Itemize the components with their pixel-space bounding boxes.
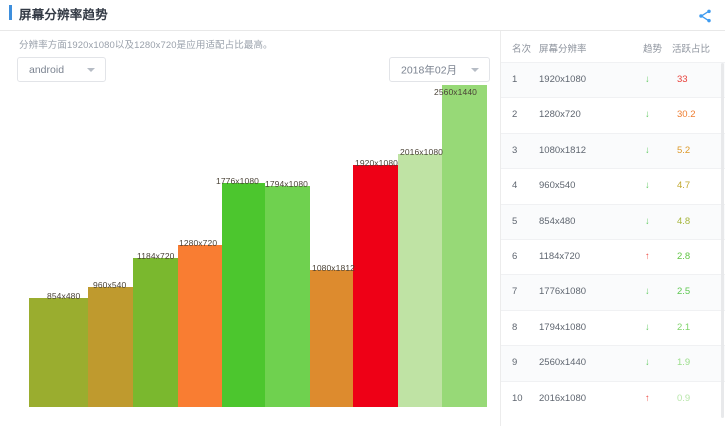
- cell-active-percent: 2.5: [677, 286, 690, 297]
- resolution-rank-table: 名次屏幕分辨率趋势活跃占比 11920x1080↓3321280x720↓30.…: [501, 31, 725, 426]
- table-column-header: 活跃占比: [672, 41, 710, 55]
- cell-active-percent: 2.1: [677, 322, 690, 333]
- panel-header: 屏幕分辨率趋势: [0, 0, 725, 30]
- cell-rank: 4: [512, 180, 517, 191]
- chart-bar-label: 2016x1080: [400, 147, 443, 157]
- chart-bar[interactable]: [222, 183, 265, 407]
- cell-resolution: 854x480: [539, 216, 575, 227]
- chart-bar-label: 1920x1080: [355, 158, 398, 168]
- arrow-down-icon: ↓: [645, 322, 650, 333]
- table-row[interactable]: 92560x1440↓1.9: [501, 345, 725, 380]
- table-row[interactable]: 5854x480↓4.8: [501, 204, 725, 239]
- chart-bar[interactable]: [29, 298, 88, 407]
- table-column-header: 名次: [512, 41, 531, 55]
- arrow-down-icon: ↓: [645, 357, 650, 368]
- share-icon[interactable]: [697, 8, 713, 24]
- table-row[interactable]: 71776x1080↓2.5: [501, 274, 725, 309]
- chart-bar-label: 960x540: [93, 280, 126, 290]
- cell-resolution: 1080x1812: [539, 145, 586, 156]
- cell-rank: 1: [512, 74, 517, 85]
- cell-active-percent: 5.2: [677, 145, 690, 156]
- cell-active-percent: 4.7: [677, 180, 690, 191]
- cell-rank: 9: [512, 357, 517, 368]
- table-body: 11920x1080↓3321280x720↓30.231080x1812↓5.…: [501, 62, 725, 416]
- cell-active-percent: 30.2: [677, 109, 696, 120]
- arrow-down-icon: ↓: [645, 286, 650, 297]
- arrow-down-icon: ↓: [645, 216, 650, 227]
- chart-bar[interactable]: [178, 245, 222, 407]
- cell-rank: 3: [512, 145, 517, 156]
- chart-bar[interactable]: [398, 154, 442, 407]
- table-row[interactable]: 4960x540↓4.7: [501, 168, 725, 203]
- cell-resolution: 2560x1440: [539, 357, 586, 368]
- chart-bar[interactable]: [310, 270, 353, 407]
- arrow-down-icon: ↓: [645, 74, 650, 85]
- arrow-up-icon: ↑: [645, 393, 650, 404]
- table-row[interactable]: 11920x1080↓33: [501, 62, 725, 97]
- table-column-header: 趋势: [643, 41, 662, 55]
- arrow-down-icon: ↓: [645, 145, 650, 156]
- cell-resolution: 1776x1080: [539, 286, 586, 297]
- platform-select[interactable]: android: [17, 57, 106, 82]
- table-header-row: 名次屏幕分辨率趋势活跃占比: [501, 31, 725, 62]
- cell-resolution: 960x540: [539, 180, 575, 191]
- table-row[interactable]: 21280x720↓30.2: [501, 97, 725, 132]
- table-scrollbar[interactable]: [721, 63, 724, 418]
- cell-rank: 7: [512, 286, 517, 297]
- title-accent-bar: [9, 5, 12, 20]
- cell-resolution: 1184x720: [539, 251, 580, 262]
- cell-rank: 2: [512, 109, 517, 120]
- cell-resolution: 1280x720: [539, 109, 581, 120]
- table-row[interactable]: 61184x720↑2.8: [501, 239, 725, 274]
- page-title: 屏幕分辨率趋势: [19, 4, 108, 23]
- cell-active-percent: 4.8: [677, 216, 690, 227]
- resolution-bar-chart: 854x480960x5401184x7201280x7201776x10801…: [0, 80, 500, 426]
- arrow-down-icon: ↓: [645, 109, 650, 120]
- table-column-header: 屏幕分辨率: [539, 41, 587, 55]
- chart-bar-label: 854x480: [47, 291, 80, 301]
- month-select[interactable]: 2018年02月: [389, 57, 490, 82]
- chart-bar-label: 1794x1080: [265, 179, 308, 189]
- panel-subtitle: 分辨率方面1920x1080以及1280x720是应用适配占比最高。: [19, 37, 273, 51]
- table-row[interactable]: 102016x1080↑0.9: [501, 381, 725, 416]
- arrow-up-icon: ↑: [645, 251, 650, 262]
- resolution-trend-panel: 屏幕分辨率趋势 分辨率方面1920x1080以及1280x720是应用适配占比最…: [0, 0, 725, 426]
- cell-rank: 10: [512, 393, 523, 404]
- chart-bar[interactable]: [265, 186, 310, 407]
- chart-bar-label: 1184x720: [137, 251, 175, 261]
- table-row[interactable]: 31080x1812↓5.2: [501, 133, 725, 168]
- chart-bar[interactable]: [133, 258, 178, 407]
- chart-bar[interactable]: [442, 85, 487, 407]
- cell-rank: 5: [512, 216, 517, 227]
- chart-bar[interactable]: [88, 287, 133, 407]
- cell-active-percent: 33: [677, 74, 688, 85]
- cell-resolution: 1794x1080: [539, 322, 586, 333]
- chart-bar-label: 1080x1812: [312, 263, 355, 273]
- cell-resolution: 1920x1080: [539, 74, 586, 85]
- cell-rank: 6: [512, 251, 517, 262]
- chart-bar-label: 2560x1440: [434, 87, 477, 97]
- cell-active-percent: 1.9: [677, 357, 690, 368]
- chart-bar[interactable]: [353, 165, 398, 407]
- chevron-down-icon: [87, 68, 95, 72]
- cell-active-percent: 2.8: [677, 251, 690, 262]
- chart-bar-label: 1776x1080: [216, 176, 259, 186]
- month-select-value: 2018年02月: [401, 62, 457, 77]
- table-row[interactable]: 81794x1080↓2.1: [501, 310, 725, 345]
- cell-rank: 8: [512, 322, 517, 333]
- chevron-down-icon: [471, 68, 479, 72]
- platform-select-value: android: [29, 64, 64, 76]
- arrow-down-icon: ↓: [645, 180, 650, 191]
- cell-active-percent: 0.9: [677, 393, 690, 404]
- chart-bar-label: 1280x720: [179, 238, 217, 248]
- cell-resolution: 2016x1080: [539, 393, 586, 404]
